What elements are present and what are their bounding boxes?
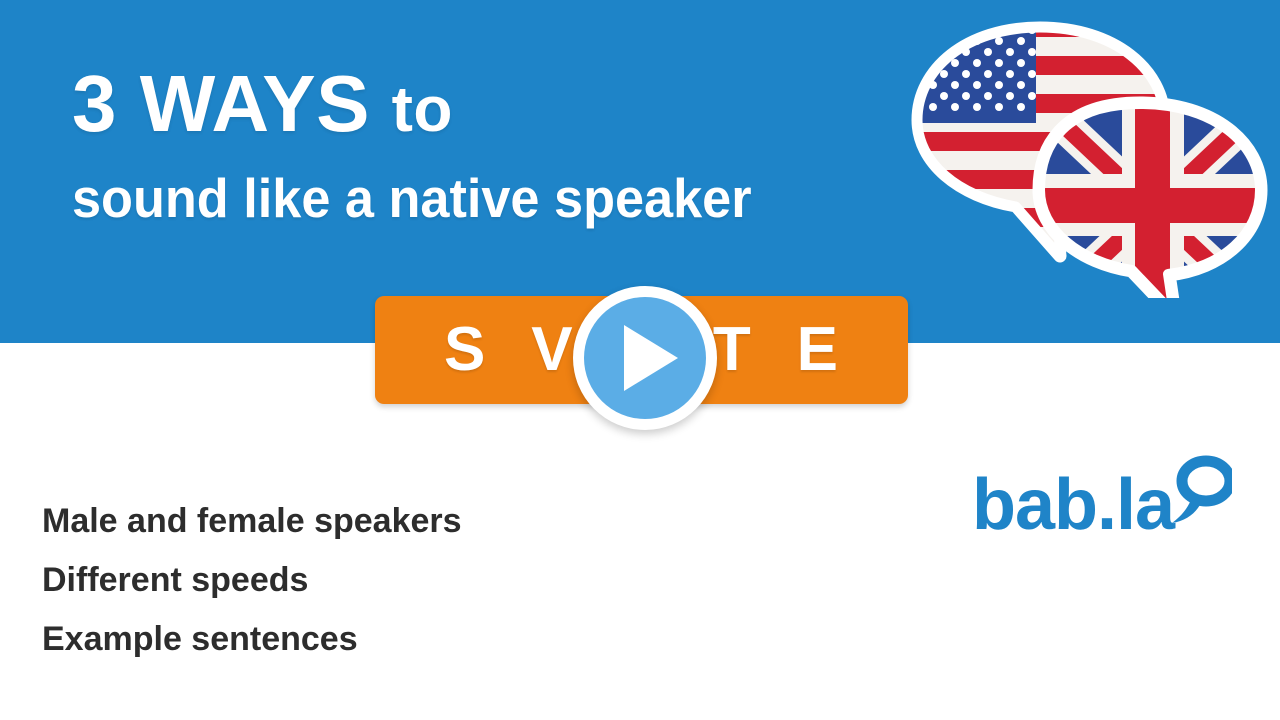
play-triangle-icon	[624, 325, 678, 391]
banner-letter-4: T	[713, 319, 752, 381]
banner-letter-1: S	[444, 319, 486, 381]
feature-list: Male and female speakers Different speed…	[42, 492, 682, 669]
banner-letter-2: V	[531, 319, 573, 381]
title-block: 3 WAYS to sound like a native speaker	[72, 58, 902, 229]
list-item: Example sentences	[42, 610, 682, 669]
list-item: Different speeds	[42, 551, 682, 610]
flag-bubbles-group	[888, 8, 1280, 298]
play-button-disc	[584, 297, 706, 419]
banner-letter-5: E	[797, 319, 839, 381]
title-strong: 3 WAYS	[72, 59, 370, 148]
babla-logo: bab.la	[972, 455, 1232, 555]
speech-bubble-icon	[1170, 455, 1232, 525]
title-line-1: 3 WAYS to	[72, 58, 902, 155]
title-line-2: sound like a native speaker	[72, 167, 861, 229]
uk-flag-bubble	[1033, 96, 1273, 298]
list-item: Male and female speakers	[42, 492, 682, 551]
video-thumbnail: 3 WAYS to sound like a native speaker	[0, 0, 1280, 720]
babla-logo-text: bab.la	[972, 469, 1174, 541]
play-button[interactable]	[573, 286, 717, 430]
title-light: to	[392, 73, 453, 145]
